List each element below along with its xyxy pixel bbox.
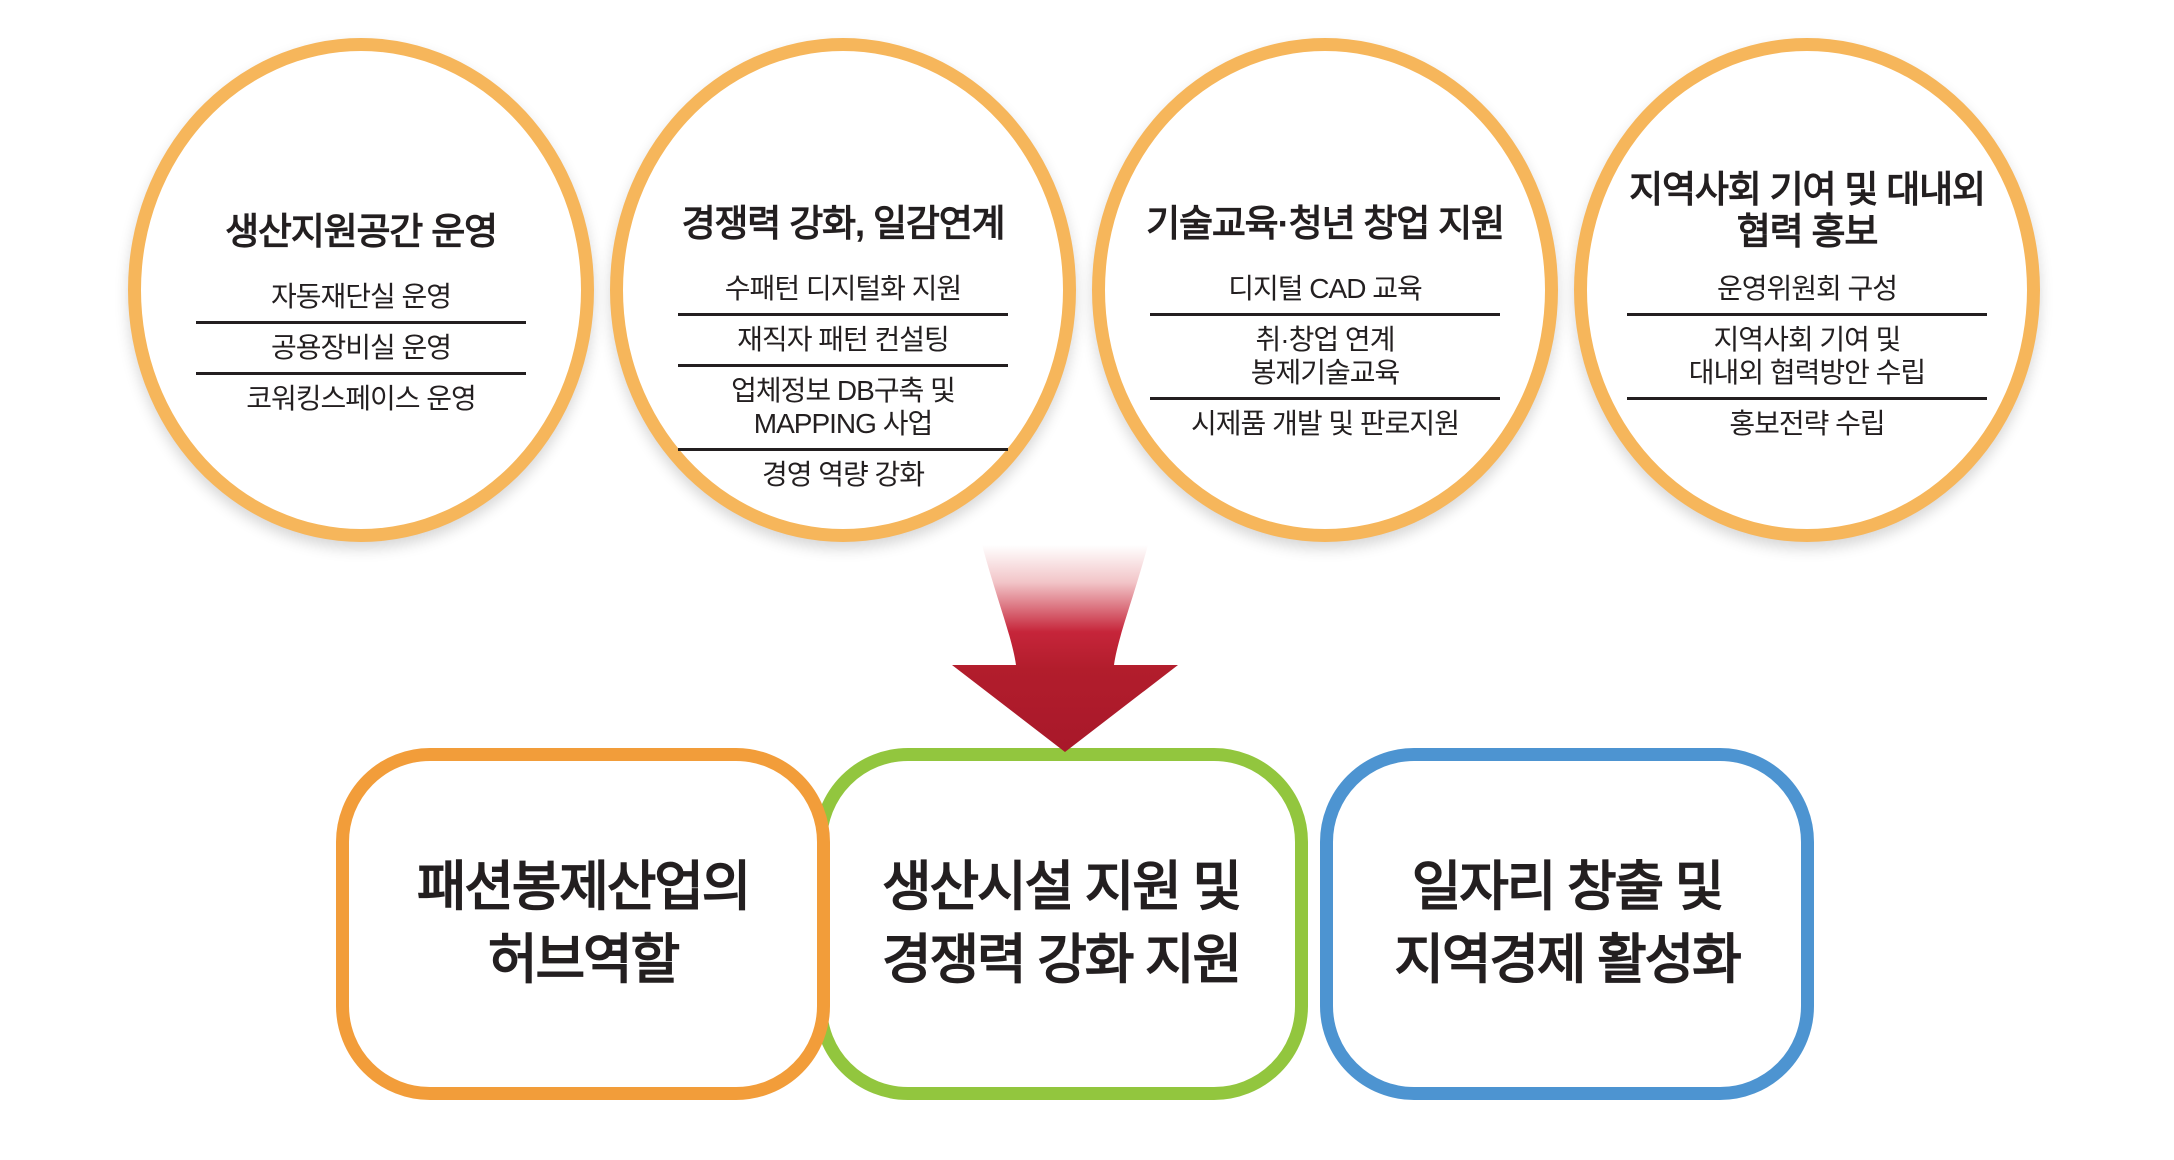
list-item: 운영위원회 구성 bbox=[1627, 265, 1987, 313]
list-item: 자동재단실 운영 bbox=[196, 273, 526, 321]
strategy-circle-1-title: 생산지원공간 운영 bbox=[225, 211, 497, 253]
goal-box-facility-support-label: 생산시설 지원 및 경쟁력 강화 지원 bbox=[882, 851, 1240, 998]
list-item: 재직자 패턴 컨설팅 bbox=[678, 313, 1008, 364]
strategy-circle-2-items: 수패턴 디지털화 지원 재직자 패턴 컨설팅 업체정보 DB구축 및 MAPPI… bbox=[678, 265, 1008, 499]
strategy-circle-3-items: 디지털 CAD 교육 취·창업 연계 봉제기술교육 시제품 개발 및 판로지원 bbox=[1150, 265, 1500, 448]
strategy-circle-row: 생산지원공간 운영 자동재단실 운영 공용장비실 운영 코워킹스페이스 운영 경… bbox=[0, 0, 2174, 560]
list-item: 업체정보 DB구축 및 MAPPING 사업 bbox=[678, 364, 1008, 448]
goal-box-jobs-economy[interactable]: 일자리 창출 및 지역경제 활성화 bbox=[1320, 748, 1814, 1100]
list-item: 코워킹스페이스 운영 bbox=[196, 372, 526, 423]
strategy-circle-2-title: 경쟁력 강화, 일감연계 bbox=[682, 203, 1005, 245]
list-item: 지역사회 기여 및 대내외 협력방안 수립 bbox=[1627, 313, 1987, 397]
strategy-circle-4[interactable]: 지역사회 기여 및 대내외 협력 홍보 운영위원회 구성 지역사회 기여 및 대… bbox=[1574, 38, 2040, 542]
strategy-circle-1[interactable]: 생산지원공간 운영 자동재단실 운영 공용장비실 운영 코워킹스페이스 운영 bbox=[128, 38, 594, 542]
list-item: 디지털 CAD 교육 bbox=[1150, 265, 1500, 313]
list-item: 취·창업 연계 봉제기술교육 bbox=[1150, 313, 1500, 397]
list-item: 홍보전략 수립 bbox=[1627, 397, 1987, 448]
strategy-circle-1-content: 생산지원공간 운영 자동재단실 운영 공용장비실 운영 코워킹스페이스 운영 bbox=[196, 51, 526, 423]
strategy-circle-4-items: 운영위원회 구성 지역사회 기여 및 대내외 협력방안 수립 홍보전략 수립 bbox=[1627, 265, 1987, 448]
list-item: 경영 역량 강화 bbox=[678, 448, 1008, 499]
strategy-circle-2-content: 경쟁력 강화, 일감연계 수패턴 디지털화 지원 재직자 패턴 컨설팅 업체정보… bbox=[678, 51, 1008, 499]
strategy-circle-3-title: 기술교육·청년 창업 지원 bbox=[1146, 203, 1504, 245]
list-item: 시제품 개발 및 판로지원 bbox=[1150, 397, 1500, 448]
strategy-circle-2[interactable]: 경쟁력 강화, 일감연계 수패턴 디지털화 지원 재직자 패턴 컨설팅 업체정보… bbox=[610, 38, 1076, 542]
goal-box-jobs-economy-label: 일자리 창출 및 지역경제 활성화 bbox=[1394, 851, 1739, 998]
goal-box-facility-support[interactable]: 생산시설 지원 및 경쟁력 강화 지원 bbox=[814, 748, 1308, 1100]
strategy-circle-1-items: 자동재단실 운영 공용장비실 운영 코워킹스페이스 운영 bbox=[196, 273, 526, 423]
strategy-circle-3-content: 기술교육·청년 창업 지원 디지털 CAD 교육 취·창업 연계 봉제기술교육 … bbox=[1150, 51, 1500, 448]
goal-box-hub[interactable]: 패션봉제산업의 허브역할 bbox=[336, 748, 830, 1100]
strategy-circle-4-content: 지역사회 기여 및 대내외 협력 홍보 운영위원회 구성 지역사회 기여 및 대… bbox=[1627, 51, 1987, 448]
goal-box-row: 패션봉제산업의 허브역할 생산시설 지원 및 경쟁력 강화 지원 일자리 창출 … bbox=[0, 748, 2174, 1120]
list-item: 공용장비실 운영 bbox=[196, 321, 526, 372]
strategy-circle-3[interactable]: 기술교육·청년 창업 지원 디지털 CAD 교육 취·창업 연계 봉제기술교육 … bbox=[1092, 38, 1558, 542]
goal-box-hub-label: 패션봉제산업의 허브역할 bbox=[417, 851, 749, 998]
down-arrow-icon bbox=[946, 545, 1184, 752]
strategy-circle-4-title: 지역사회 기여 및 대내외 협력 홍보 bbox=[1627, 169, 1987, 253]
list-item: 수패턴 디지털화 지원 bbox=[678, 265, 1008, 313]
